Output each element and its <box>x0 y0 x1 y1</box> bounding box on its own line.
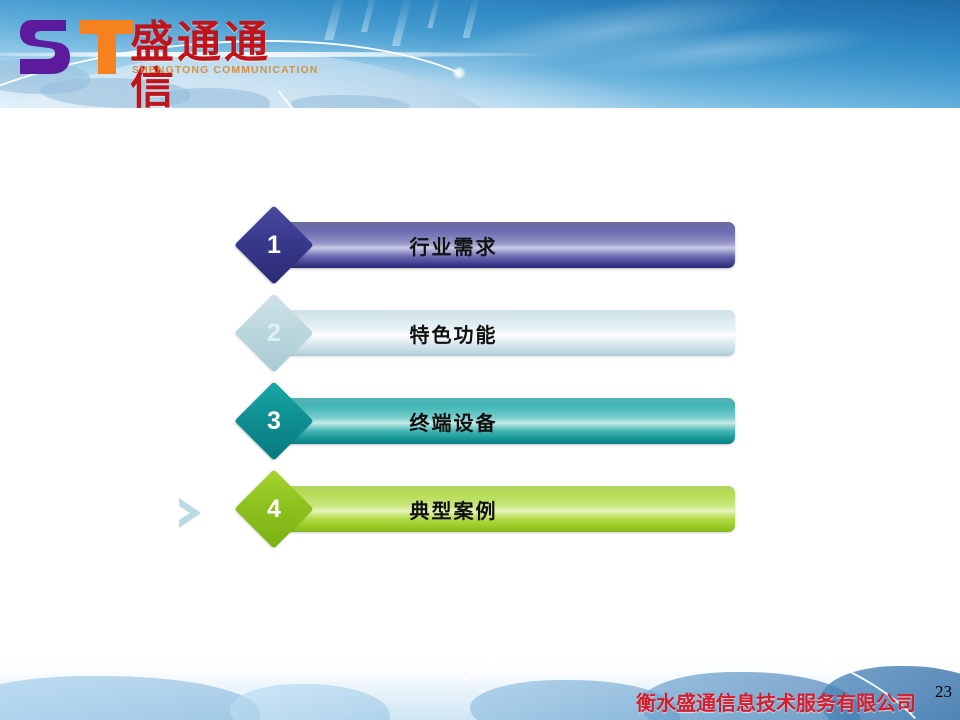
footer-banner: 衡水盛通信息技术服务有限公司 23 <box>0 658 960 720</box>
agenda-item-label: 特色功能 <box>282 310 735 356</box>
page-number: 23 <box>935 682 952 702</box>
agenda-bar[interactable]: 行业需求 <box>282 222 735 268</box>
agenda-list: 行业需求 1 特色功能 2 终端设备 3 <box>0 0 960 720</box>
agenda-item-label: 终端设备 <box>282 398 735 444</box>
agenda-item-label: 典型案例 <box>282 486 735 532</box>
agenda-row[interactable]: 典型案例 4 <box>0 474 960 544</box>
agenda-bar[interactable]: 特色功能 <box>282 310 735 356</box>
agenda-number-diamond[interactable] <box>234 469 313 548</box>
agenda-bar[interactable]: 终端设备 <box>282 398 735 444</box>
agenda-number-diamond[interactable] <box>234 381 313 460</box>
slide-canvas: 盛通通信 SHENGTONG COMMUNICATION 行业需求 1 特色功能 <box>0 0 960 720</box>
footer-company-name: 衡水盛通信息技术服务有限公司 <box>636 687 916 716</box>
agenda-row[interactable]: 特色功能 2 <box>0 298 960 368</box>
agenda-item-label: 行业需求 <box>282 222 735 268</box>
agenda-number-diamond[interactable] <box>234 293 313 372</box>
chevron-right-icon <box>175 496 205 530</box>
agenda-bar[interactable]: 典型案例 <box>282 486 735 532</box>
agenda-row[interactable]: 行业需求 1 <box>0 210 960 280</box>
agenda-row[interactable]: 终端设备 3 <box>0 386 960 456</box>
agenda-number-diamond[interactable] <box>234 205 313 284</box>
